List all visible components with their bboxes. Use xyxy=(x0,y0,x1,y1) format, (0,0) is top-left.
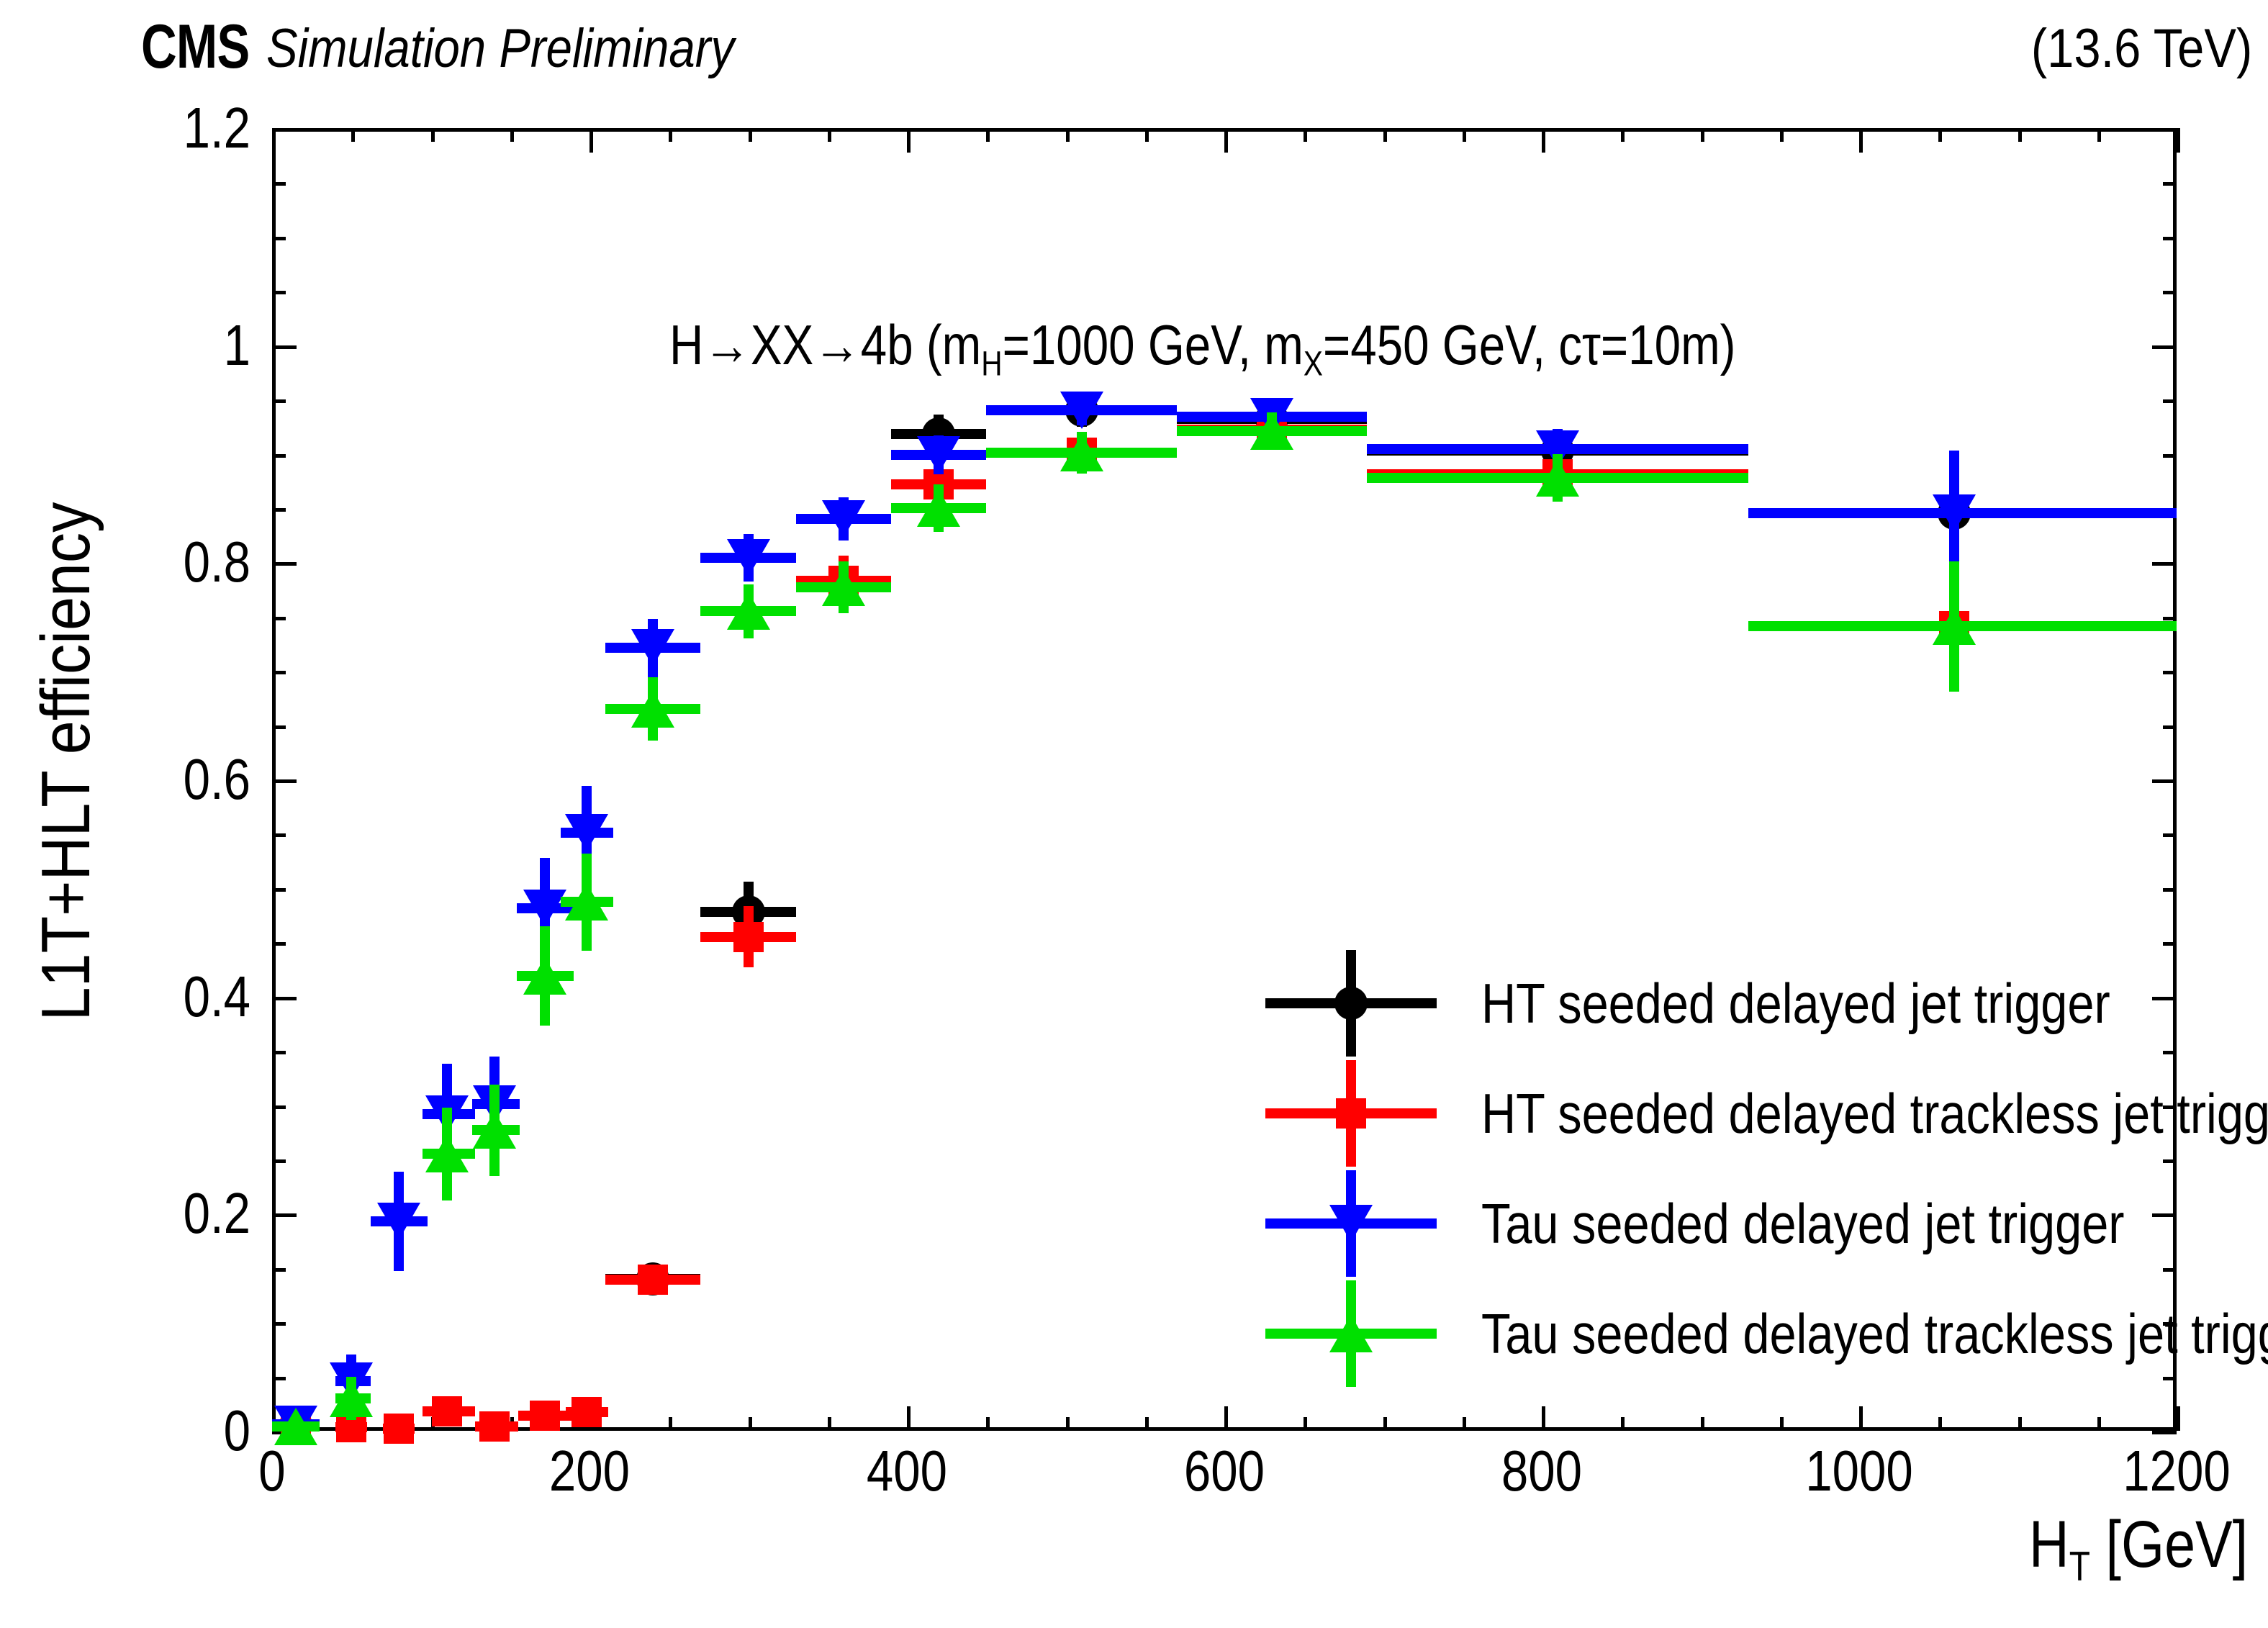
axis-tick xyxy=(272,1322,286,1326)
marker-triangle-down-icon xyxy=(917,436,960,474)
axis-tick xyxy=(2018,128,2022,142)
axis-tick xyxy=(2163,725,2177,729)
axis-tick xyxy=(2152,128,2177,132)
axis-tick xyxy=(2018,1417,2022,1431)
axis-tick xyxy=(1145,1417,1149,1431)
axis-tick xyxy=(2152,779,2177,783)
axis-tick xyxy=(2163,671,2177,674)
marker-square-icon xyxy=(432,1396,462,1426)
simulation-status-label: Simulation Preliminary xyxy=(266,22,734,76)
axis-tick xyxy=(1542,1406,1545,1431)
axis-tick xyxy=(272,888,286,892)
axis-tick xyxy=(272,617,286,620)
axis-tick xyxy=(272,997,297,1000)
axis-tick xyxy=(828,1417,831,1431)
x-tick-label: 1000 xyxy=(1805,1442,1912,1500)
marker-triangle-up-icon xyxy=(631,690,674,728)
axis-tick xyxy=(1463,128,1466,142)
y-tick-label: 0.4 xyxy=(87,968,250,1026)
axis-tick xyxy=(1304,1417,1307,1431)
x-tick-label: 200 xyxy=(549,1442,630,1500)
y-tick-label: 1.2 xyxy=(87,99,250,157)
axis-tick xyxy=(749,128,752,142)
legend-label: HT seeded delayed jet trigger xyxy=(1481,975,2110,1031)
axis-tick xyxy=(2177,1406,2180,1431)
axis-tick xyxy=(2097,128,2101,142)
marker-triangle-down-icon xyxy=(1933,494,1976,532)
collision-energy-label: (13.6 TeV) xyxy=(2031,22,2252,76)
axis-tick xyxy=(1383,1417,1387,1431)
axis-tick xyxy=(272,833,286,837)
axis-tick xyxy=(272,1105,286,1109)
axis-tick xyxy=(272,237,286,240)
marker-triangle-up-icon xyxy=(1250,412,1293,450)
axis-tick xyxy=(272,345,297,349)
legend-label: HT seeded delayed trackless jet trigger xyxy=(1481,1085,2268,1141)
axis-tick xyxy=(272,1051,286,1054)
axis-tick xyxy=(431,128,435,142)
legend-item[interactable]: HT seeded delayed jet trigger xyxy=(1265,949,2268,1059)
axis-tick xyxy=(749,1417,752,1431)
axis-tick xyxy=(272,399,286,403)
axis-tick xyxy=(351,128,355,142)
marker-triangle-down-icon xyxy=(523,890,566,927)
process-annotation: H→XX→4b (mH=1000 GeV, mX=450 GeV, cτ=10m… xyxy=(669,317,1735,381)
marker-triangle-up-icon xyxy=(1060,434,1103,471)
legend-item[interactable]: Tau seeded delayed jet trigger xyxy=(1265,1169,2268,1279)
marker-triangle-up-icon xyxy=(565,883,608,921)
axis-tick xyxy=(272,671,286,674)
legend: HT seeded delayed jet triggerHT seeded d… xyxy=(1265,949,2268,1389)
axis-tick xyxy=(1145,128,1149,142)
marker-square-icon xyxy=(638,1265,668,1295)
axis-tick xyxy=(2163,237,2177,240)
axis-tick xyxy=(1938,1417,1942,1431)
marker-square-icon xyxy=(384,1414,414,1444)
marker-triangle-down-icon xyxy=(377,1203,420,1240)
axis-tick xyxy=(2163,399,2177,403)
y-tick-label: 0.6 xyxy=(87,751,250,808)
marker-triangle-down-icon xyxy=(822,500,865,538)
axis-tick xyxy=(986,128,990,142)
axis-tick xyxy=(986,1417,990,1431)
axis-tick xyxy=(669,128,672,142)
axis-tick xyxy=(2152,1431,2177,1434)
cms-logo-label: CMS xyxy=(141,16,249,78)
axis-tick xyxy=(272,562,297,566)
axis-tick xyxy=(2163,617,2177,620)
axis-tick xyxy=(1780,128,1784,142)
y-axis-title: L1T+HLT efficiency xyxy=(32,255,101,1268)
marker-triangle-down-icon xyxy=(727,539,770,576)
axis-tick xyxy=(1304,128,1307,142)
marker-triangle-up-icon xyxy=(822,569,865,606)
axis-tick xyxy=(2163,888,2177,892)
marker-triangle-up-icon xyxy=(473,1111,516,1149)
marker-square-icon xyxy=(733,922,764,952)
axis-tick xyxy=(272,128,297,132)
marker-triangle-down-icon xyxy=(1060,392,1103,429)
x-tick-label: 800 xyxy=(1501,1442,1582,1500)
y-tick-label: 0 xyxy=(87,1402,250,1460)
axis-tick xyxy=(907,128,911,153)
axis-tick xyxy=(272,182,286,186)
axis-tick xyxy=(272,508,286,512)
marker-square-icon xyxy=(530,1401,560,1431)
axis-tick xyxy=(1938,128,1942,142)
axis-tick xyxy=(669,1417,672,1431)
marker-triangle-up-icon xyxy=(523,957,566,995)
axis-tick xyxy=(589,128,593,153)
chart-canvas: CMS Simulation Preliminary (13.6 TeV) H→… xyxy=(0,0,2268,1628)
marker-triangle-up-icon xyxy=(1329,1315,1373,1352)
marker-triangle-down-icon xyxy=(631,629,674,666)
axis-tick xyxy=(1463,1417,1466,1431)
marker-circle-icon xyxy=(1334,987,1368,1020)
x-tick-label: 400 xyxy=(867,1442,947,1500)
x-tick-label: 1200 xyxy=(2123,1442,2230,1500)
marker-square-icon xyxy=(479,1411,510,1442)
x-tick-label: 0 xyxy=(258,1442,285,1500)
axis-tick xyxy=(1701,1417,1704,1431)
axis-tick xyxy=(1859,1406,1863,1431)
x-tick-label: 600 xyxy=(1184,1442,1265,1500)
axis-tick xyxy=(272,454,286,458)
axis-tick xyxy=(2163,182,2177,186)
legend-label: Tau seeded delayed trackless jet trigger xyxy=(1481,1306,2268,1362)
axis-tick xyxy=(1621,1417,1625,1431)
plot-area: H→XX→4b (mH=1000 GeV, mX=450 GeV, cτ=10m… xyxy=(272,128,2177,1431)
marker-square-icon xyxy=(1336,1098,1366,1129)
axis-tick xyxy=(272,725,286,729)
axis-tick xyxy=(1621,128,1625,142)
axis-tick xyxy=(2177,128,2180,153)
axis-tick xyxy=(272,779,297,783)
axis-tick xyxy=(272,1213,297,1217)
axis-tick xyxy=(272,128,276,153)
axis-tick xyxy=(2097,1417,2101,1431)
marker-triangle-up-icon xyxy=(425,1135,469,1172)
axis-tick xyxy=(907,1406,911,1431)
axis-tick xyxy=(272,942,286,946)
marker-triangle-up-icon xyxy=(917,489,960,527)
axis-tick xyxy=(1859,128,1863,153)
axis-tick xyxy=(510,128,514,142)
axis-tick xyxy=(2163,833,2177,837)
axis-tick xyxy=(2163,291,2177,294)
marker-square-icon xyxy=(571,1397,602,1427)
axis-tick xyxy=(272,1377,286,1380)
legend-label: Tau seeded delayed jet trigger xyxy=(1481,1195,2125,1252)
axis-tick xyxy=(1224,1406,1228,1431)
marker-triangle-up-icon xyxy=(1536,459,1579,497)
y-tick-label: 0.8 xyxy=(87,533,250,591)
legend-item[interactable]: Tau seeded delayed trackless jet trigger xyxy=(1265,1279,2268,1389)
axis-tick xyxy=(1383,128,1387,142)
marker-triangle-down-icon xyxy=(1329,1205,1373,1242)
legend-item[interactable]: HT seeded delayed trackless jet trigger xyxy=(1265,1059,2268,1169)
axis-tick xyxy=(1066,128,1070,142)
axis-tick xyxy=(2163,942,2177,946)
marker-triangle-down-icon xyxy=(565,814,608,851)
axis-tick xyxy=(272,1268,286,1272)
axis-tick xyxy=(1701,128,1704,142)
axis-tick xyxy=(1780,1417,1784,1431)
axis-tick xyxy=(828,128,831,142)
axis-tick xyxy=(272,1159,286,1163)
axis-tick xyxy=(2163,454,2177,458)
marker-triangle-up-icon xyxy=(1933,607,1976,645)
axis-tick xyxy=(272,291,286,294)
y-tick-label: 0.2 xyxy=(87,1185,250,1242)
axis-tick xyxy=(1542,128,1545,153)
axis-tick xyxy=(2152,345,2177,349)
axis-tick xyxy=(1066,1417,1070,1431)
marker-triangle-up-icon xyxy=(330,1380,373,1417)
y-tick-label: 1 xyxy=(87,317,250,374)
x-axis-title: HT [GeV] xyxy=(2029,1511,2248,1587)
axis-tick xyxy=(1224,128,1228,153)
marker-triangle-up-icon xyxy=(727,592,770,630)
axis-tick xyxy=(2152,562,2177,566)
